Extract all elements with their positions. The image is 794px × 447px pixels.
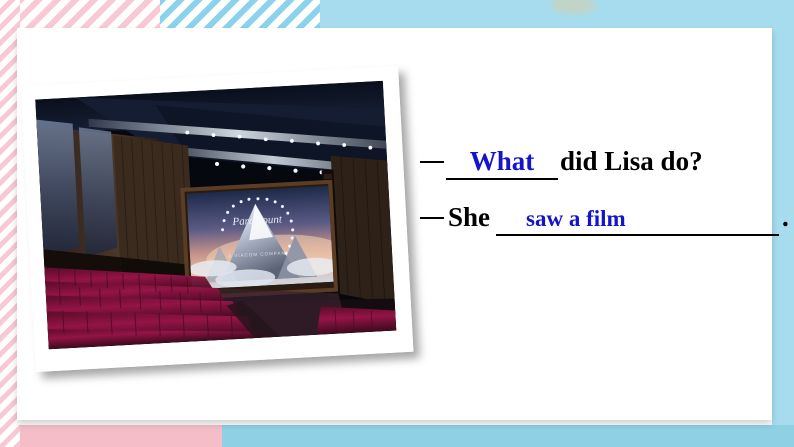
top-blue-stripes <box>160 0 320 30</box>
sentence-1-rest: did Lisa do? <box>560 146 703 177</box>
sentence-2-period: . <box>782 202 789 233</box>
sentence-line-2: She saw a film . <box>420 202 780 236</box>
slide-canvas: Paramount A VIACOM COMPANY <box>0 0 794 447</box>
answer-blank-what[interactable]: What <box>446 147 558 180</box>
photo-image-area: Paramount A VIACOM COMPANY <box>35 81 396 349</box>
bottom-pink-band <box>0 425 222 447</box>
top-pink-stripes <box>0 0 160 30</box>
sentence-line-1: What did Lisa do? <box>420 146 780 180</box>
cinema-photo: Paramount A VIACOM COMPANY <box>21 66 414 372</box>
em-dash-icon <box>420 217 444 220</box>
exercise-sentences: What did Lisa do? She saw a film . <box>420 146 780 236</box>
decorative-tan-blob <box>552 0 596 14</box>
answer-blank-saw-a-film[interactable]: saw a film <box>496 207 779 236</box>
em-dash-icon <box>420 161 444 164</box>
sentence-2-subject: She <box>448 202 490 233</box>
cinema-interior-illustration: Paramount A VIACOM COMPANY <box>35 81 396 349</box>
